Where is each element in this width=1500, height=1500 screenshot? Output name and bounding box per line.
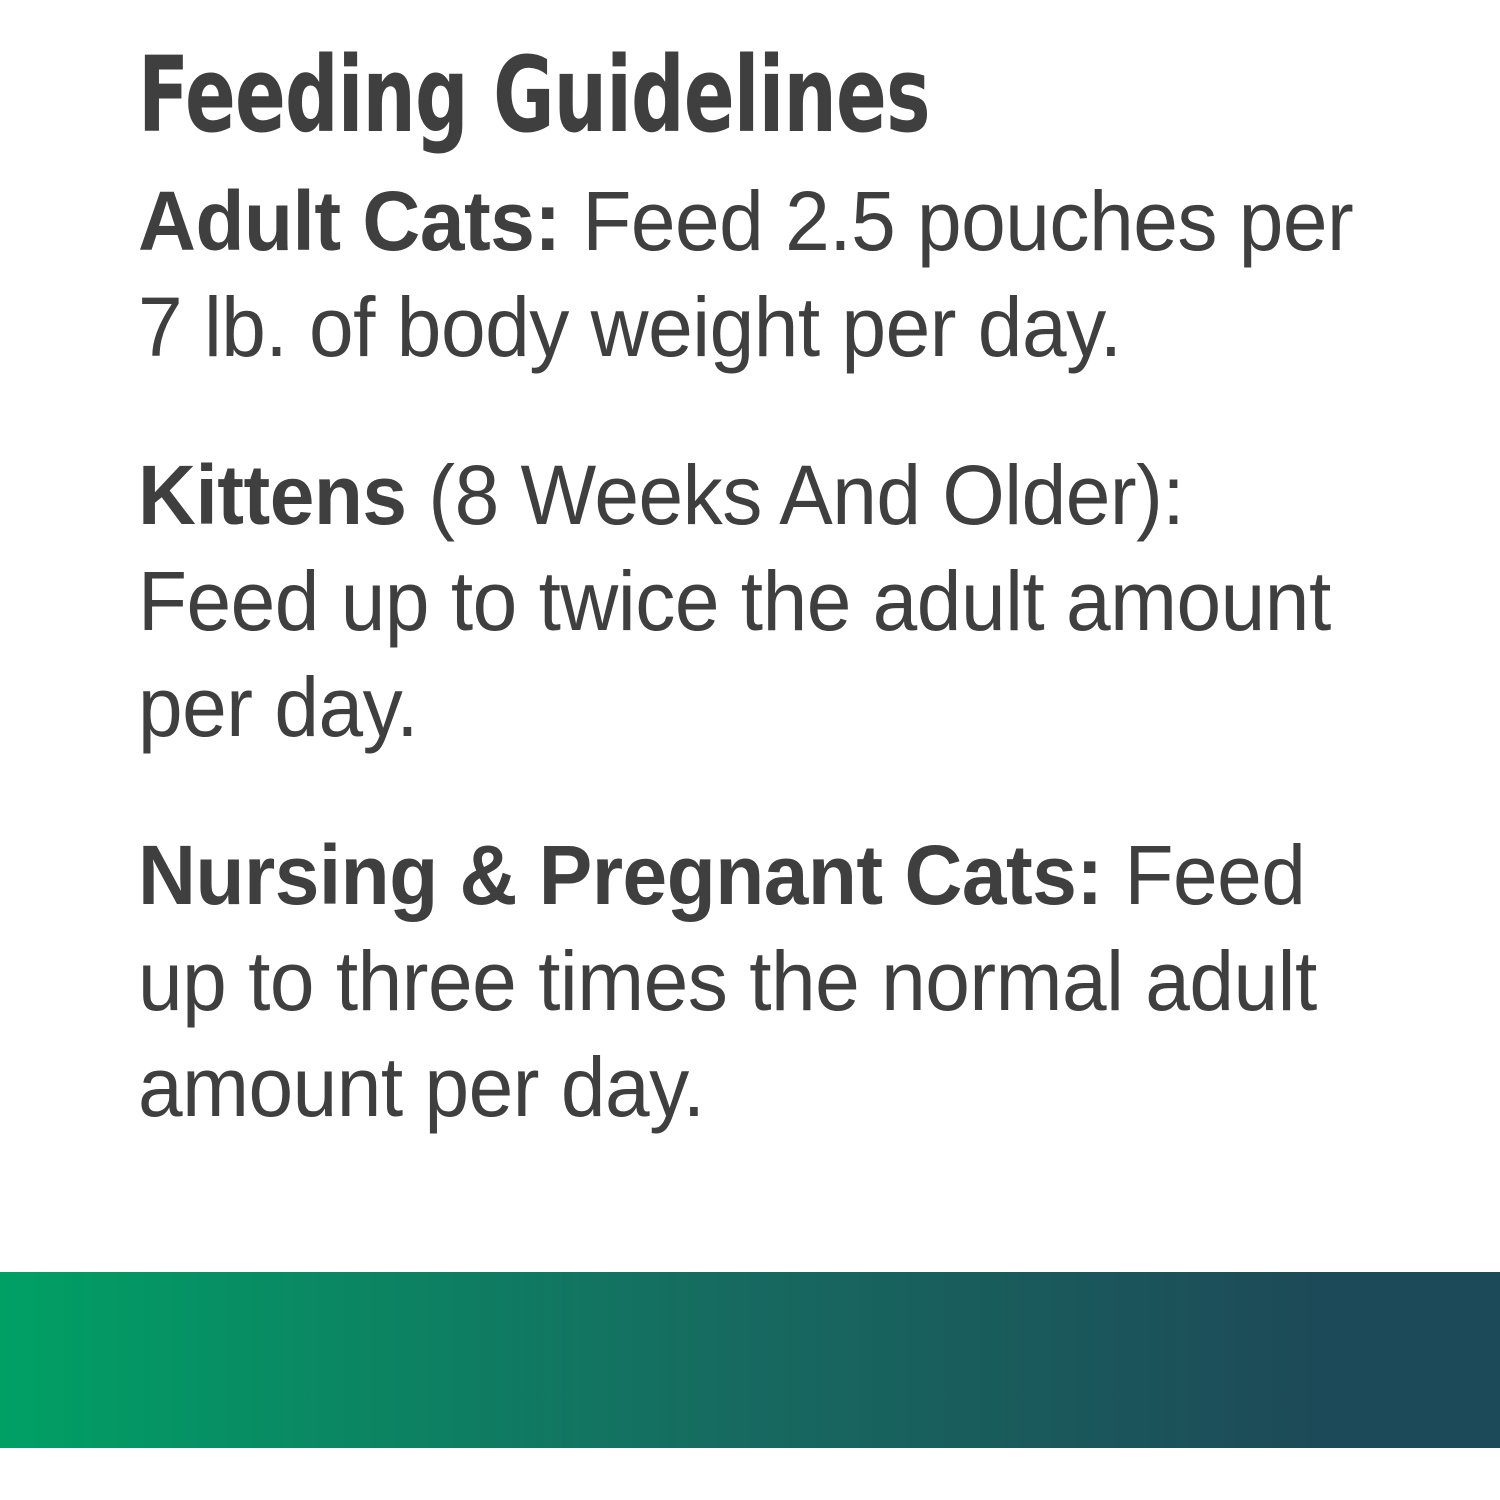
guidelines-list: Adult Cats: Feed 2.5 pouches per 7 lb. o… (138, 168, 1428, 1140)
guideline-lead-kittens: Kittens (138, 448, 407, 542)
guideline-lead-nursing-pregnant-cats: Nursing & Pregnant Cats: (138, 828, 1103, 922)
page-title: Feeding Guidelines (138, 40, 1162, 150)
feeding-guidelines-panel: Feeding Guidelines Adult Cats: Feed 2.5 … (0, 0, 1500, 1500)
guideline-item-adult-cats: Adult Cats: Feed 2.5 pouches per 7 lb. o… (138, 168, 1370, 380)
bottom-gradient-bar (0, 1272, 1500, 1448)
guideline-item-kittens: Kittens (8 Weeks And Older): Feed up to … (138, 442, 1370, 760)
guideline-lead-adult-cats: Adult Cats: (138, 174, 561, 268)
guideline-item-nursing-pregnant-cats: Nursing & Pregnant Cats: Feed up to thre… (138, 822, 1370, 1140)
